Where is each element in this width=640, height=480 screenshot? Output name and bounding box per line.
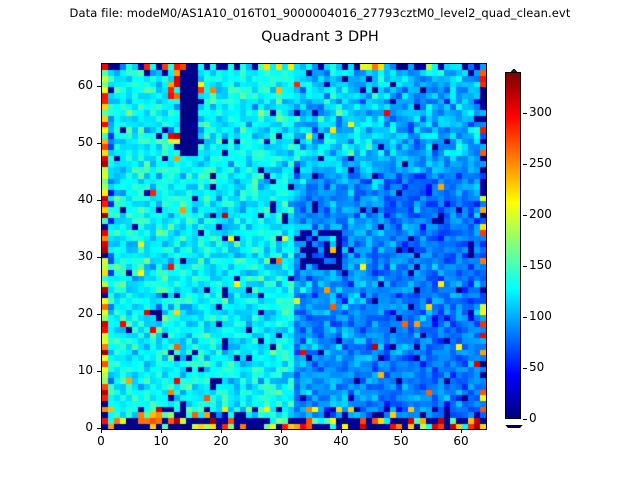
y-tick-mark bbox=[97, 257, 101, 258]
colorbar-tick-label: 150 bbox=[529, 258, 552, 272]
y-tick-label: 10 bbox=[53, 363, 93, 377]
y-tick-mark bbox=[97, 428, 101, 429]
y-tick-label: 0 bbox=[53, 420, 93, 434]
heatmap-image bbox=[102, 64, 486, 429]
colorbar-tick-mark bbox=[523, 368, 527, 369]
y-tick-label: 20 bbox=[53, 306, 93, 320]
colorbar-tick-label: 200 bbox=[529, 207, 552, 221]
y-tick-mark bbox=[97, 314, 101, 315]
colorbar-tick-label: 50 bbox=[529, 360, 544, 374]
y-tick-mark bbox=[97, 86, 101, 87]
x-tick-label: 30 bbox=[261, 434, 301, 448]
colorbar-extend-max-arrow bbox=[505, 63, 523, 72]
x-tick-mark bbox=[161, 429, 162, 433]
x-tick-label: 40 bbox=[321, 434, 361, 448]
x-tick-mark bbox=[281, 429, 282, 433]
y-tick-mark bbox=[97, 143, 101, 144]
page-title: Quadrant 3 DPH bbox=[0, 29, 640, 45]
y-tick-label: 30 bbox=[53, 249, 93, 263]
colorbar-tick-label: 0 bbox=[529, 411, 537, 425]
colorbar-tick-mark bbox=[523, 266, 527, 267]
data-file-label: Data file: modeM0/AS1A10_016T01_90000040… bbox=[0, 6, 640, 20]
colorbar-gradient bbox=[505, 72, 521, 419]
heatmap-axes bbox=[101, 63, 487, 430]
colorbar bbox=[505, 63, 523, 428]
x-tick-mark bbox=[401, 429, 402, 433]
x-tick-label: 10 bbox=[141, 434, 181, 448]
x-tick-mark bbox=[221, 429, 222, 433]
x-tick-mark bbox=[341, 429, 342, 433]
colorbar-tick-mark bbox=[523, 113, 527, 114]
colorbar-tick-label: 250 bbox=[529, 156, 552, 170]
figure-canvas: Data file: modeM0/AS1A10_016T01_90000040… bbox=[0, 0, 640, 480]
x-tick-mark bbox=[461, 429, 462, 433]
y-tick-label: 50 bbox=[53, 135, 93, 149]
colorbar-tick-label: 300 bbox=[529, 105, 552, 119]
x-tick-label: 20 bbox=[201, 434, 241, 448]
x-tick-label: 60 bbox=[441, 434, 481, 448]
y-tick-label: 40 bbox=[53, 192, 93, 206]
x-tick-mark bbox=[101, 429, 102, 433]
colorbar-extend-min-arrow bbox=[505, 419, 523, 428]
y-tick-mark bbox=[97, 200, 101, 201]
colorbar-tick-mark bbox=[523, 215, 527, 216]
colorbar-tick-mark bbox=[523, 164, 527, 165]
x-tick-label: 50 bbox=[381, 434, 421, 448]
colorbar-tick-label: 100 bbox=[529, 309, 552, 323]
y-tick-mark bbox=[97, 371, 101, 372]
colorbar-tick-mark bbox=[523, 317, 527, 318]
colorbar-tick-mark bbox=[523, 419, 527, 420]
x-tick-label: 0 bbox=[81, 434, 121, 448]
y-tick-label: 60 bbox=[53, 78, 93, 92]
